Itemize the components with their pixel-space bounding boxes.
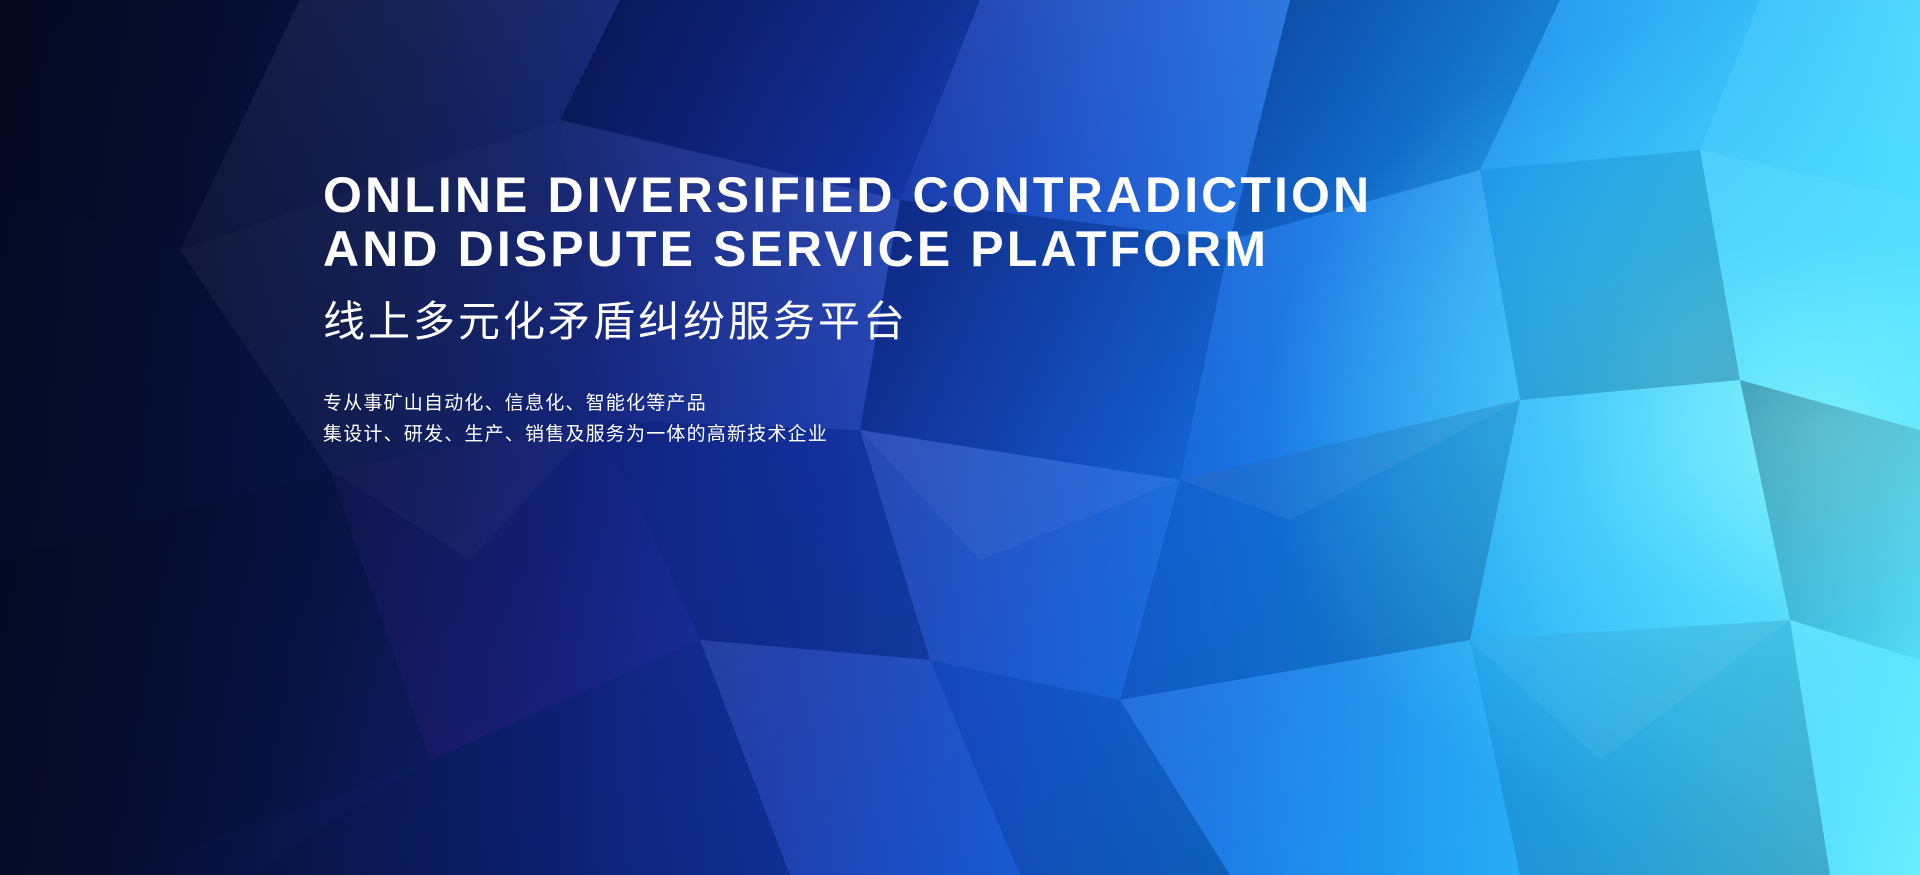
hero-description-line-2: 集设计、研发、生产、销售及服务为一体的高新技术企业 [323,419,1423,450]
facet-shape [1120,640,1520,875]
hero-description-line-1: 专从事矿山自动化、信息化、智能化等产品 [323,388,1423,419]
facet-shape [860,430,1180,700]
facet-shape [1470,380,1790,640]
facet-shape [1480,150,1740,400]
facet-shape [0,0,300,250]
hero-description: 专从事矿山自动化、信息化、智能化等产品 集设计、研发、生产、销售及服务为一体的高… [323,388,1423,450]
facet-shape [0,470,430,875]
facet-shape [1700,150,1920,430]
hero-title-english-line2: AND DISPUTE SERVICE PLATFORM [323,222,1423,276]
facet-shape [1740,380,1920,660]
facet-shape [250,640,790,875]
hero-banner: ONLINE DIVERSIFIED CONTRADICTIONAND DISP… [0,0,1920,875]
facet-shape [1790,620,1920,875]
hero-title-english-line1: ONLINE DIVERSIFIED CONTRADICTION [323,167,1372,223]
facet-shape [930,660,1230,875]
facet-shape [700,640,1020,875]
facet-shape [1470,620,1830,875]
facet-shape [330,420,700,760]
facet-shape [1480,0,1760,170]
facet-shape [600,420,930,660]
facet-shape [0,190,330,560]
facet-shape [1700,0,1920,200]
hero-title-english: ONLINE DIVERSIFIED CONTRADICTIONAND DISP… [323,168,1423,276]
hero-title-chinese: 线上多元化矛盾纠纷服务平台 [323,296,1423,348]
hero-content: ONLINE DIVERSIFIED CONTRADICTIONAND DISP… [323,168,1423,450]
facet-shape [1470,620,1790,760]
